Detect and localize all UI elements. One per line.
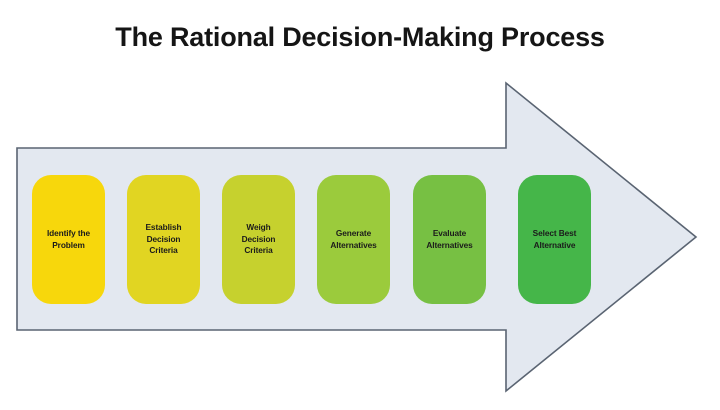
step-label-2: Establish Decision Criteria xyxy=(146,222,182,257)
diagram-canvas: The Rational Decision-Making Process Ide… xyxy=(0,0,720,410)
step-list: Identify the Problem Establish Decision … xyxy=(32,175,592,304)
step-box-weigh-decision-criteria[interactable]: Weigh Decision Criteria xyxy=(222,175,295,304)
step-box-evaluate-alternatives[interactable]: Evaluate Alternatives xyxy=(413,175,486,304)
step-label-1: Identify the Problem xyxy=(47,228,90,251)
step-box-establish-decision-criteria[interactable]: Establish Decision Criteria xyxy=(127,175,200,304)
step-box-generate-alternatives[interactable]: Generate Alternatives xyxy=(317,175,390,304)
step-label-6: Select Best Alternative xyxy=(533,228,577,251)
step-label-3: Weigh Decision Criteria xyxy=(242,222,276,257)
step-label-5: Evaluate Alternatives xyxy=(426,228,472,251)
step-box-select-best-alternative[interactable]: Select Best Alternative xyxy=(518,175,591,304)
step-label-4: Generate Alternatives xyxy=(330,228,376,251)
step-box-identify-the-problem[interactable]: Identify the Problem xyxy=(32,175,105,304)
